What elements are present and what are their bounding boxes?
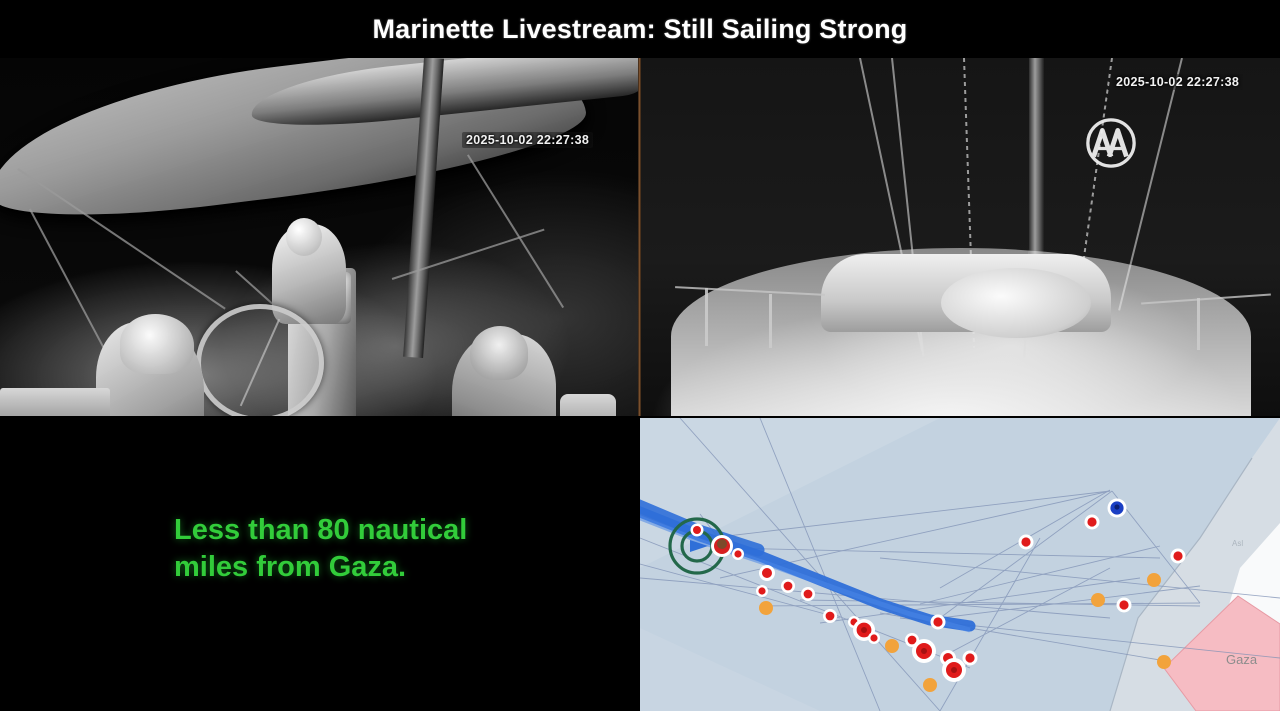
vessel-marker-red[interactable] <box>781 579 795 593</box>
aa-watermark-logo <box>1082 116 1140 170</box>
vessel-marker-red[interactable] <box>963 651 978 666</box>
camera-panel-cockpit[interactable]: 2025-10-02 22:27:38 <box>0 58 638 418</box>
title-bar: Marinette Livestream: Still Sailing Stro… <box>0 0 1280 58</box>
crew-member-right-head <box>470 326 528 380</box>
steering-wheel <box>196 304 324 418</box>
vessel-marker-orange[interactable] <box>759 601 773 615</box>
vessel-marker-red[interactable] <box>756 585 768 597</box>
vessel-marker-orange[interactable] <box>1091 593 1105 607</box>
vessel-marker-red[interactable] <box>931 615 946 630</box>
stanchion <box>705 288 708 346</box>
map-label-gaza: Gaza <box>1226 652 1258 667</box>
vessel-marker-blue[interactable] <box>1108 499 1127 518</box>
stanchion <box>1197 298 1200 350</box>
vessel-marker-orange[interactable] <box>1157 655 1171 669</box>
vessel-marker-red[interactable] <box>801 587 815 601</box>
caption-line-2: miles from Gaza. <box>174 549 604 586</box>
deck-equipment <box>560 394 616 418</box>
vessel-marker-red[interactable] <box>1019 535 1034 550</box>
map-label-faint: Asl <box>1232 539 1243 548</box>
vessel-marker-red[interactable] <box>942 658 966 682</box>
caption-panel: Less than 80 nautical miles from Gaza. <box>0 418 638 711</box>
caption-line-1: Less than 80 nautical <box>174 512 604 549</box>
map-canvas[interactable]: Gaza Asl <box>640 418 1280 711</box>
vessel-marker-red[interactable] <box>823 609 837 623</box>
vessel-marker-red[interactable] <box>759 565 775 581</box>
cockpit-night-vision-feed <box>0 58 638 418</box>
stanchion <box>769 294 772 348</box>
crew-member-left-head <box>120 314 194 374</box>
vessel-marker-orange[interactable] <box>923 678 937 692</box>
vessel-marker-red[interactable] <box>711 535 733 557</box>
timestamp-foredeck: 2025-10-02 22:27:38 <box>1112 74 1243 90</box>
vessel-marker-red[interactable] <box>1117 598 1132 613</box>
vessel-marker-red[interactable] <box>1085 515 1100 530</box>
timestamp-cockpit: 2025-10-02 22:27:38 <box>462 132 593 148</box>
vessel-marker-red[interactable] <box>732 548 744 560</box>
foredeck-night-vision-feed <box>641 58 1280 418</box>
sail-bag <box>941 268 1091 338</box>
vessel-marker-red[interactable] <box>691 524 704 537</box>
vessel-marker-red[interactable] <box>912 639 936 663</box>
page-title: Marinette Livestream: Still Sailing Stro… <box>372 14 907 45</box>
vessel-marker-red[interactable] <box>868 632 880 644</box>
vessel-marker-orange[interactable] <box>885 639 899 653</box>
deck-equipment <box>0 388 110 418</box>
caption-text: Less than 80 nautical miles from Gaza. <box>174 512 604 586</box>
screen-root: Marinette Livestream: Still Sailing Stro… <box>0 0 1280 711</box>
vessel-marker-orange[interactable] <box>1147 573 1161 587</box>
camera-panel-foredeck[interactable]: 2025-10-02 22:27:38 <box>641 58 1280 418</box>
map-panel[interactable]: Gaza Asl <box>640 418 1280 711</box>
crew-helmsman-head <box>286 218 322 256</box>
vessel-marker-red[interactable] <box>1171 549 1186 564</box>
